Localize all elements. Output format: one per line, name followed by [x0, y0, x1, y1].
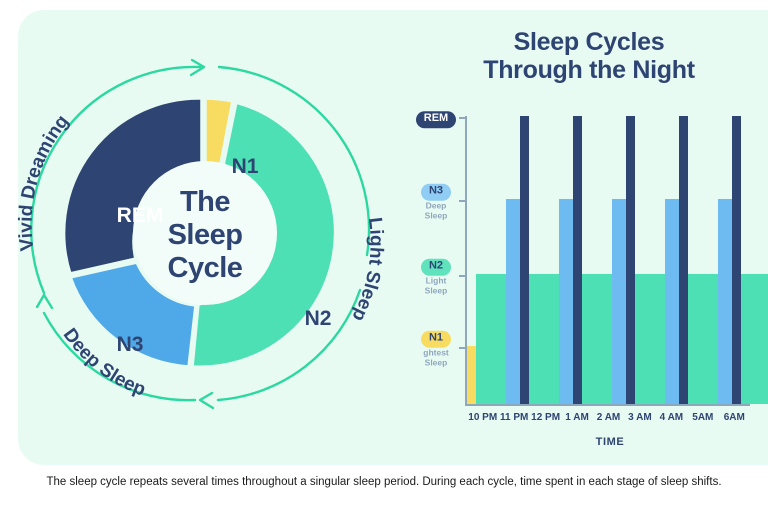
caption-text: The sleep cycle repeats several times th…: [18, 474, 750, 492]
y-axis-sublabel-n3-1: Deep: [414, 201, 458, 211]
donut-label-n1: N1: [232, 155, 259, 178]
y-axis-sublabel-n2-2: Sleep: [414, 287, 458, 297]
infographic-root: N1 N2 N3 REM The Sleep Cycle Vivid Dream…: [0, 0, 768, 515]
bar-n2-4[interactable]: [529, 274, 559, 404]
x-axis-label-4: 2 AM: [597, 412, 621, 423]
donut-chart-svg: N1 N2 N3 REM The Sleep Cycle Vivid Dream…: [0, 45, 410, 420]
bar-rem-6[interactable]: [573, 116, 582, 404]
y-axis-legend-rem: REM: [414, 108, 458, 128]
chart-title-line1: Sleep Cycles: [514, 28, 665, 56]
donut-label-n3: N3: [117, 333, 144, 356]
x-axis-label-1: 11 PM: [500, 412, 528, 423]
donut-label-n2: N2: [305, 307, 332, 330]
sleep-cycles-chart-panel: Sleep Cycles Through the Night N1ghtestS…: [410, 18, 768, 448]
x-axis-label-5: 3 AM: [628, 412, 652, 423]
bar-n2-13[interactable]: [688, 274, 718, 404]
y-axis-sublabel-n1-1: ghtest: [414, 348, 458, 358]
chart-plot-area: [465, 116, 750, 406]
chart-x-axis-line: [465, 404, 750, 406]
bar-n3-14[interactable]: [718, 199, 732, 404]
y-axis-tick-n2: [459, 275, 465, 277]
x-axis-label-6: 4 AM: [660, 412, 684, 423]
y-axis-pill-n1: N1: [421, 331, 451, 348]
donut-outer-label-light-sleep-text: Light Sleep: [347, 216, 386, 324]
bar-rem-12[interactable]: [679, 116, 688, 404]
y-axis-pill-rem: REM: [416, 111, 456, 128]
chart-title: Sleep Cycles Through the Night: [410, 28, 768, 84]
x-axis-label-8: 6AM: [724, 412, 745, 423]
bar-n3-5[interactable]: [559, 199, 573, 404]
bar-n3-2[interactable]: [506, 199, 520, 404]
bar-n2-16[interactable]: [741, 274, 768, 404]
y-axis-legend-n2: N2LightSleep: [414, 256, 458, 297]
chart-title-line2: Through the Night: [483, 56, 695, 84]
y-axis-sublabel-n3-2: Sleep: [414, 212, 458, 222]
bar-n3-8[interactable]: [612, 199, 626, 404]
chart-x-axis-labels: 10 PM11 PM12 PM1 AM2 AM3 AM4 AM5AM6AM: [465, 412, 755, 428]
donut-center-line2: Sleep: [168, 219, 243, 251]
chart-x-axis-title: TIME: [465, 436, 755, 448]
y-axis-tick-rem: [459, 117, 465, 119]
sleep-cycle-donut-panel: N1 N2 N3 REM The Sleep Cycle Vivid Dream…: [0, 45, 410, 420]
y-axis-pill-n3: N3: [421, 184, 451, 201]
x-axis-label-0: 10 PM: [468, 412, 497, 423]
bar-rem-3[interactable]: [520, 116, 529, 404]
bar-n2-7[interactable]: [582, 274, 612, 404]
y-axis-tick-n3: [459, 200, 465, 202]
y-axis-sublabel-n1-2: Sleep: [414, 359, 458, 369]
y-axis-legend-n3: N3DeepSleep: [414, 181, 458, 222]
x-axis-label-7: 5AM: [692, 412, 713, 423]
donut-center-line1: The: [180, 186, 230, 218]
x-axis-label-3: 1 AM: [565, 412, 589, 423]
x-axis-label-2: 12 PM: [531, 412, 560, 423]
donut-center-line3: Cycle: [168, 252, 243, 284]
y-axis-pill-n2: N2: [421, 259, 451, 276]
donut-label-rem: REM: [117, 204, 164, 227]
bar-n2-10[interactable]: [635, 274, 665, 404]
bar-n1-0[interactable]: [467, 346, 476, 404]
bar-n3-11[interactable]: [665, 199, 679, 404]
y-axis-legend-n1: N1ghtestSleep: [414, 328, 458, 369]
donut-outer-label-light-sleep: Light Sleep: [347, 216, 386, 324]
chart-bars: [467, 116, 750, 404]
bar-rem-9[interactable]: [626, 116, 635, 404]
y-axis-tick-n1: [459, 347, 465, 349]
y-axis-sublabel-n2-1: Light: [414, 276, 458, 286]
bar-rem-15[interactable]: [732, 116, 741, 404]
bar-n2-1[interactable]: [476, 274, 506, 404]
